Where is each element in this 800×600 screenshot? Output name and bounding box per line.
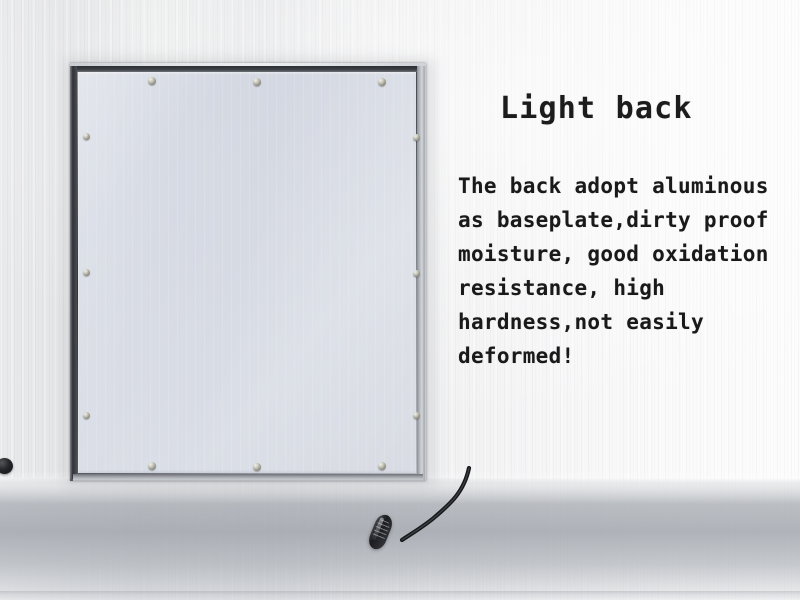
- caption-line: moisture, good oxidation: [458, 237, 794, 271]
- panel-screw-left: [83, 133, 90, 140]
- frame-left-edge: [70, 66, 77, 479]
- caption-line: deformed!: [458, 339, 794, 373]
- caption-line: hardness,not easily: [458, 305, 794, 339]
- aluminium-baseplate: [78, 72, 416, 473]
- caption-headline: Light back: [500, 92, 794, 125]
- panel-screw-bottom: [148, 462, 156, 470]
- caption-body: The back adopt aluminousas baseplate,dir…: [458, 169, 794, 373]
- panel-screw-top: [378, 78, 386, 86]
- caption-line: The back adopt aluminous: [458, 169, 794, 203]
- caption-line: as baseplate,dirty proof: [458, 203, 794, 237]
- panel-screw-right: [413, 270, 420, 277]
- panel-screw-bottom: [253, 463, 261, 471]
- baseplate-brush-texture: [78, 72, 416, 473]
- caption-line: resistance, high: [458, 271, 794, 305]
- panel-screw-top: [148, 77, 156, 85]
- light-box-back-panel: [70, 63, 426, 481]
- panel-screw-left: [83, 412, 90, 419]
- panel-screw-top: [253, 78, 261, 86]
- panel-screw-right: [413, 412, 420, 419]
- table-front-edge: [0, 591, 800, 600]
- power-cable: [340, 440, 500, 580]
- caption-block: Light back The back adopt aluminousas ba…: [458, 92, 794, 373]
- panel-screw-left: [83, 269, 90, 276]
- panel-screw-right: [413, 134, 420, 141]
- product-feature-image: Light back The back adopt aluminousas ba…: [0, 0, 800, 600]
